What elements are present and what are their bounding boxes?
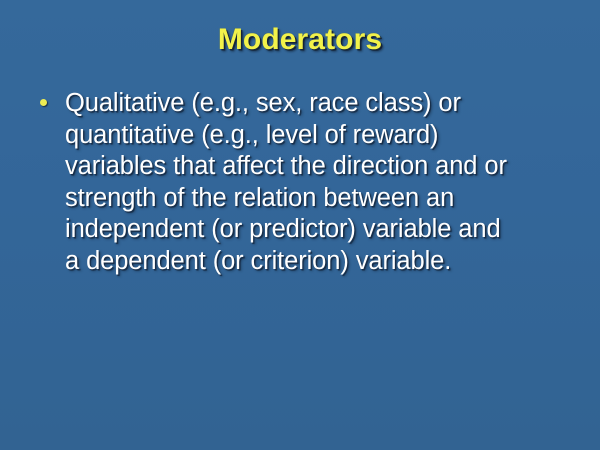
bullet-line-1: Qualitative (e.g., sex, race class) or xyxy=(65,88,560,120)
bullet-item-text: Qualitative (e.g., sex, race class) or q… xyxy=(65,88,560,277)
bullet-point-icon xyxy=(40,88,65,106)
slide-body: Qualitative (e.g., sex, race class) or q… xyxy=(40,88,560,277)
slide-title: Moderators xyxy=(0,23,600,57)
bullet-line-4: strength of the relation between an xyxy=(65,183,560,215)
bullet-line-2: quantitative (e.g., level of reward) xyxy=(65,120,560,152)
presentation-slide: Moderators Qualitative (e.g., sex, race … xyxy=(0,0,600,450)
bullet-line-5: independent (or predictor) variable and xyxy=(65,214,560,246)
bullet-line-6: a dependent (or criterion) variable. xyxy=(65,246,560,278)
bullet-list-item: Qualitative (e.g., sex, race class) or q… xyxy=(40,88,560,277)
bullet-line-3: variables that affect the direction and … xyxy=(65,151,560,183)
